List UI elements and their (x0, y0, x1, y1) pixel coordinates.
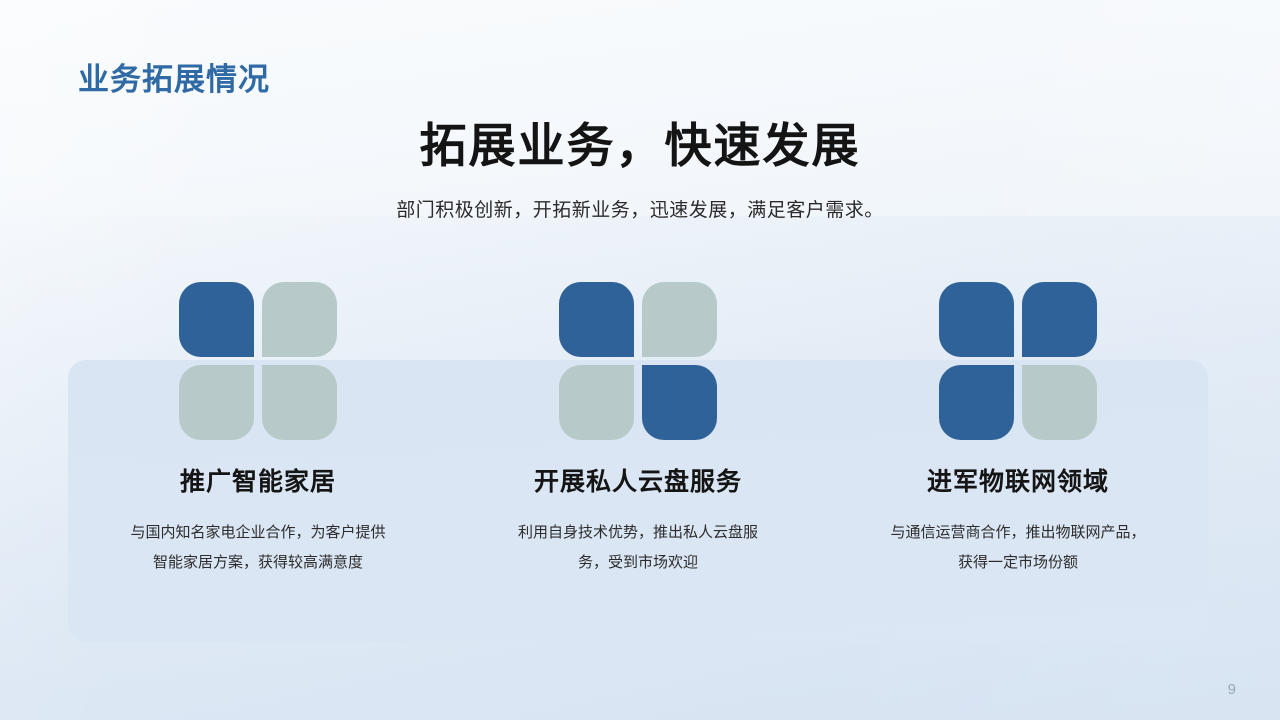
icon-cell-bottom-right (642, 365, 717, 440)
icon-cell-bottom-left (179, 365, 254, 440)
page-title: 拓展业务，快速发展 (0, 118, 1280, 173)
card-body: 与国内知名家电企业合作，为客户提供智能家居方案，获得较高满意度 (126, 518, 390, 578)
card-title: 进军物联网领域 (927, 462, 1109, 498)
icon-cell-top-right (642, 282, 717, 357)
icon-cell-bottom-left (559, 365, 634, 440)
icon-cell-top-left (559, 282, 634, 357)
card-title: 推广智能家居 (180, 462, 336, 498)
cards-row: 推广智能家居 与国内知名家电企业合作，为客户提供智能家居方案，获得较高满意度 开… (68, 282, 1208, 642)
four-square-grid-icon-diagonal-blue (559, 282, 717, 440)
icon-cell-bottom-right (262, 365, 337, 440)
page-subtitle: 部门积极创新，开拓新业务，迅速发展，满足客户需求。 (0, 195, 1280, 222)
headline-block: 拓展业务，快速发展 部门积极创新，开拓新业务，迅速发展，满足客户需求。 (0, 118, 1280, 222)
slide-canvas: 业务拓展情况 拓展业务，快速发展 部门积极创新，开拓新业务，迅速发展，满足客户需… (0, 0, 1280, 720)
card-3[interactable]: 进军物联网领域 与通信运营商合作，推出物联网产品，获得一定市场份额 (828, 282, 1208, 642)
icon-cell-top-right (262, 282, 337, 357)
icon-cell-top-left (179, 282, 254, 357)
icon-cell-top-left (939, 282, 1014, 357)
four-square-grid-icon-three-blue (939, 282, 1097, 440)
page-number: 9 (1228, 681, 1236, 698)
card-body: 利用自身技术优势，推出私人云盘服务，受到市场欢迎 (506, 518, 770, 578)
icon-cell-bottom-left (939, 365, 1014, 440)
card-2[interactable]: 开展私人云盘服务 利用自身技术优势，推出私人云盘服务，受到市场欢迎 (448, 282, 828, 642)
card-1[interactable]: 推广智能家居 与国内知名家电企业合作，为客户提供智能家居方案，获得较高满意度 (68, 282, 448, 642)
icon-cell-bottom-right (1022, 365, 1097, 440)
icon-cell-top-right (1022, 282, 1097, 357)
section-title: 业务拓展情况 (78, 54, 270, 99)
card-title: 开展私人云盘服务 (534, 462, 742, 498)
card-body: 与通信运营商合作，推出物联网产品，获得一定市场份额 (886, 518, 1150, 578)
four-square-grid-icon-one-blue (179, 282, 337, 440)
